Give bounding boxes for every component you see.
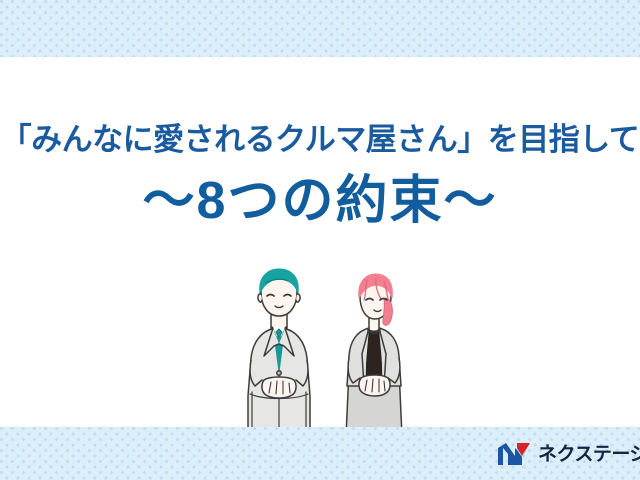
- nextage-logo: ネクステージ: [497, 438, 629, 470]
- female-staff-figure: [346, 274, 402, 430]
- top-dotted-band: [0, 0, 640, 57]
- male-staff-figure: [248, 269, 310, 430]
- headline-secondary: 〜8つの約束〜: [0, 170, 640, 232]
- promo-banner: 「みんなに愛されるクルマ屋さん」を目指して 〜8つの約束〜: [0, 0, 640, 480]
- two-bowing-staff-illustration: [228, 268, 416, 430]
- headline-primary: 「みんなに愛されるクルマ屋さん」を目指して: [0, 118, 640, 162]
- headline-block: 「みんなに愛されるクルマ屋さん」を目指して 〜8つの約束〜: [0, 118, 640, 232]
- nextage-wordmark: ネクステージ: [538, 445, 640, 464]
- nextage-n-mark-icon: [497, 442, 531, 466]
